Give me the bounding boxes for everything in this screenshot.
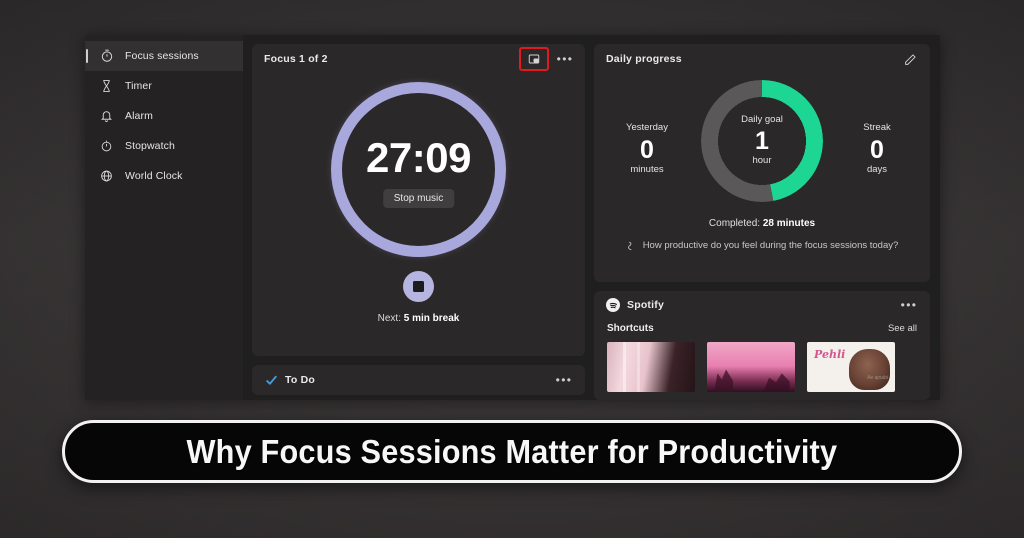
sidebar-item-alarm[interactable]: Alarm xyxy=(85,101,243,131)
stat-unit: minutes xyxy=(608,164,686,175)
focus-timer-dial: 27:09 Stop music xyxy=(331,82,506,257)
spotify-card-header: Spotify ••• xyxy=(594,291,930,319)
more-options-icon[interactable]: ••• xyxy=(554,371,574,389)
sidebar: Focus sessions Timer Alarm xyxy=(85,35,243,400)
pencil-edit-icon[interactable] xyxy=(900,50,920,68)
timer-remaining-text: 27:09 xyxy=(331,136,506,180)
stop-music-button[interactable]: Stop music xyxy=(383,189,454,208)
globe-clock-icon xyxy=(99,169,114,184)
album-art-subtitle: Ae ajnabi xyxy=(867,375,888,381)
next-label: Next: xyxy=(378,313,401,324)
completed-label: Completed: xyxy=(709,218,760,229)
stop-session-button[interactable] xyxy=(403,271,434,302)
sidebar-item-timer[interactable]: Timer xyxy=(85,71,243,101)
see-all-link[interactable]: See all xyxy=(888,323,917,334)
stat-label: Streak xyxy=(838,122,916,133)
feedback-icon xyxy=(626,240,637,251)
stat-unit: days xyxy=(838,164,916,175)
shortcuts-label: Shortcuts xyxy=(607,323,654,334)
stat-value: 0 xyxy=(608,135,686,165)
ring-center-stat: Daily goal 1 hour xyxy=(701,114,823,166)
spotify-card-title: Spotify xyxy=(627,299,664,311)
daily-goal-value: 1 xyxy=(701,126,823,156)
sidebar-item-label: Timer xyxy=(125,80,152,92)
bell-icon xyxy=(99,109,114,124)
shortcut-thumbnails: Pehli Ae ajnabi xyxy=(594,334,930,392)
feedback-text: How productive do you feel during the fo… xyxy=(643,240,899,251)
sidebar-item-label: Focus sessions xyxy=(125,50,199,62)
focus-session-card: Focus 1 of 2 ••• xyxy=(252,44,585,356)
todo-card-title: To Do xyxy=(285,374,315,386)
next-session-row: Next: 5 min break xyxy=(252,313,585,324)
progress-card-header: Daily progress xyxy=(594,44,930,74)
more-options-icon[interactable]: ••• xyxy=(899,296,919,314)
daily-progress-card: Daily progress Daily goal 1 hour xyxy=(594,44,930,282)
todo-check-icon xyxy=(264,373,278,387)
hourglass-icon xyxy=(99,79,114,94)
completed-value: 28 minutes xyxy=(763,218,815,229)
spotify-logo-icon xyxy=(606,298,620,312)
spotify-card: Spotify ••• Shortcuts See all Pehli xyxy=(594,291,930,400)
stop-square-icon xyxy=(413,281,424,292)
stat-streak: Streak 0 days xyxy=(838,122,916,175)
daily-goal-unit: hour xyxy=(701,155,823,166)
caption-text: Why Focus Sessions Matter for Productivi… xyxy=(187,433,838,471)
album-art-title: Pehli xyxy=(814,348,845,361)
stat-value: 0 xyxy=(838,135,916,165)
dots-glyph: ••• xyxy=(557,55,574,63)
right-column: Daily progress Daily goal 1 hour xyxy=(594,44,930,400)
mini-view-icon[interactable] xyxy=(524,50,544,68)
next-value: 5 min break xyxy=(404,313,460,324)
daily-goal-label: Daily goal xyxy=(701,114,823,125)
todo-card[interactable]: To Do ••• xyxy=(252,365,585,395)
dots-glyph: ••• xyxy=(901,301,918,309)
shortcuts-row: Shortcuts See all xyxy=(594,319,930,334)
clock-app-window: Focus sessions Timer Alarm xyxy=(85,35,940,400)
sidebar-item-stopwatch[interactable]: Stopwatch xyxy=(85,131,243,161)
album-art-1[interactable] xyxy=(607,342,695,392)
stopwatch-icon xyxy=(99,139,114,154)
album-art-portrait xyxy=(849,349,889,390)
album-art-2[interactable] xyxy=(707,342,795,392)
more-options-icon[interactable]: ••• xyxy=(555,50,575,68)
focus-card-header: Focus 1 of 2 ••• xyxy=(252,44,585,74)
sidebar-item-label: World Clock xyxy=(125,170,183,182)
mini-view-highlight xyxy=(519,47,549,71)
album-art-3[interactable]: Pehli Ae ajnabi xyxy=(807,342,895,392)
left-column: Focus 1 of 2 ••• xyxy=(252,44,585,400)
focus-card-title: Focus 1 of 2 xyxy=(264,53,328,65)
completed-text: Completed: 28 minutes xyxy=(594,218,930,229)
stat-yesterday: Yesterday 0 minutes xyxy=(608,122,686,175)
sidebar-item-focus-sessions[interactable]: Focus sessions xyxy=(85,41,243,71)
sidebar-item-label: Stopwatch xyxy=(125,140,175,152)
feedback-prompt[interactable]: How productive do you feel during the fo… xyxy=(594,240,930,251)
dots-glyph: ••• xyxy=(556,376,573,384)
focus-sessions-icon xyxy=(99,49,114,64)
sidebar-item-world-clock[interactable]: World Clock xyxy=(85,161,243,191)
progress-card-title: Daily progress xyxy=(606,53,682,65)
sidebar-item-label: Alarm xyxy=(125,110,153,122)
caption-banner: Why Focus Sessions Matter for Productivi… xyxy=(62,420,962,483)
daily-goal-ring: Daily goal 1 hour xyxy=(701,80,823,202)
main-content: Focus 1 of 2 ••• xyxy=(243,35,940,400)
stat-label: Yesterday xyxy=(608,122,686,133)
